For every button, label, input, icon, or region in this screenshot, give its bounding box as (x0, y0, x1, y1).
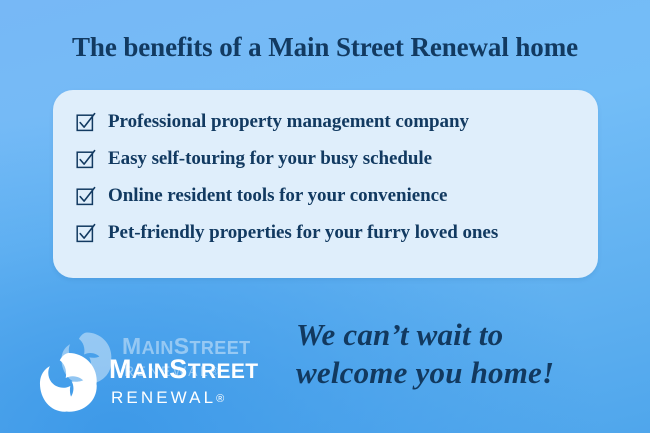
tagline-line-2: welcome you home! (296, 354, 626, 392)
promotional-graphic: The benefits of a Main Street Renewal ho… (0, 0, 650, 433)
list-item-label: Online resident tools for your convenien… (108, 185, 447, 207)
tagline-line-1: We can’t wait to (296, 316, 626, 354)
list-item: Pet-friendly properties for your furry l… (75, 221, 498, 245)
tagline: We can’t wait to welcome you home! (296, 316, 626, 392)
list-item: Easy self-touring for your busy schedule (75, 147, 432, 171)
logo-name: MAINSTREET (109, 355, 259, 386)
checked-box-icon (75, 111, 97, 133)
list-item-label: Easy self-touring for your busy schedule (108, 148, 432, 170)
checked-box-icon (75, 148, 97, 170)
page-title: The benefits of a Main Street Renewal ho… (0, 32, 650, 63)
list-item: Professional property management company (75, 110, 469, 134)
benefits-card: Professional property management company… (53, 90, 598, 278)
logo-wordmark: MAINSTREET RENEWAL® (109, 355, 259, 409)
checked-box-icon (75, 222, 97, 244)
mainstreet-renewal-logo: MAINSTREET RENEWAL® (36, 349, 259, 415)
mainstreet-renewal-pinwheel-logo-icon (36, 349, 102, 415)
list-item: Online resident tools for your convenien… (75, 184, 447, 208)
checked-box-icon (75, 185, 97, 207)
list-item-label: Pet-friendly properties for your furry l… (108, 222, 498, 244)
logo-subtitle: RENEWAL® (111, 388, 259, 409)
list-item-label: Professional property management company (108, 111, 469, 133)
